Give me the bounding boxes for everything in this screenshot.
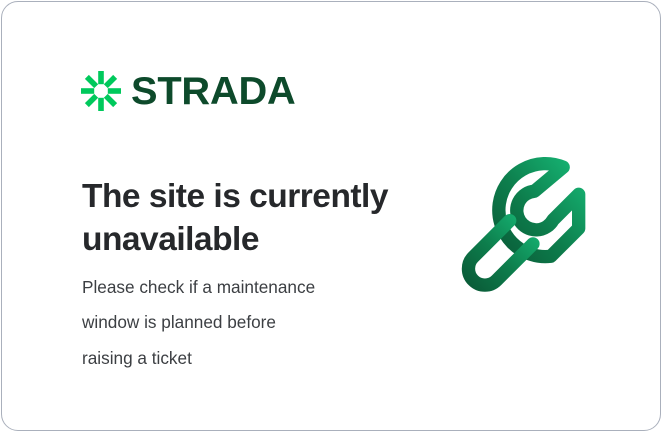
description-line: Please check if a maintenance (82, 270, 402, 305)
description-line: window is planned before (82, 305, 402, 340)
brand-logo: STRADA (81, 71, 292, 111)
page-title: The site is currently unavailable (82, 176, 412, 260)
description-line: raising a ticket (82, 341, 402, 376)
strada-asterisk-icon (81, 71, 121, 111)
brand-wordmark: STRADA (131, 72, 296, 111)
status-card: STRADA The site is currently unavailable… (1, 1, 661, 431)
wrench-icon (457, 154, 612, 309)
status-description: Please check if a maintenance window is … (82, 270, 402, 376)
